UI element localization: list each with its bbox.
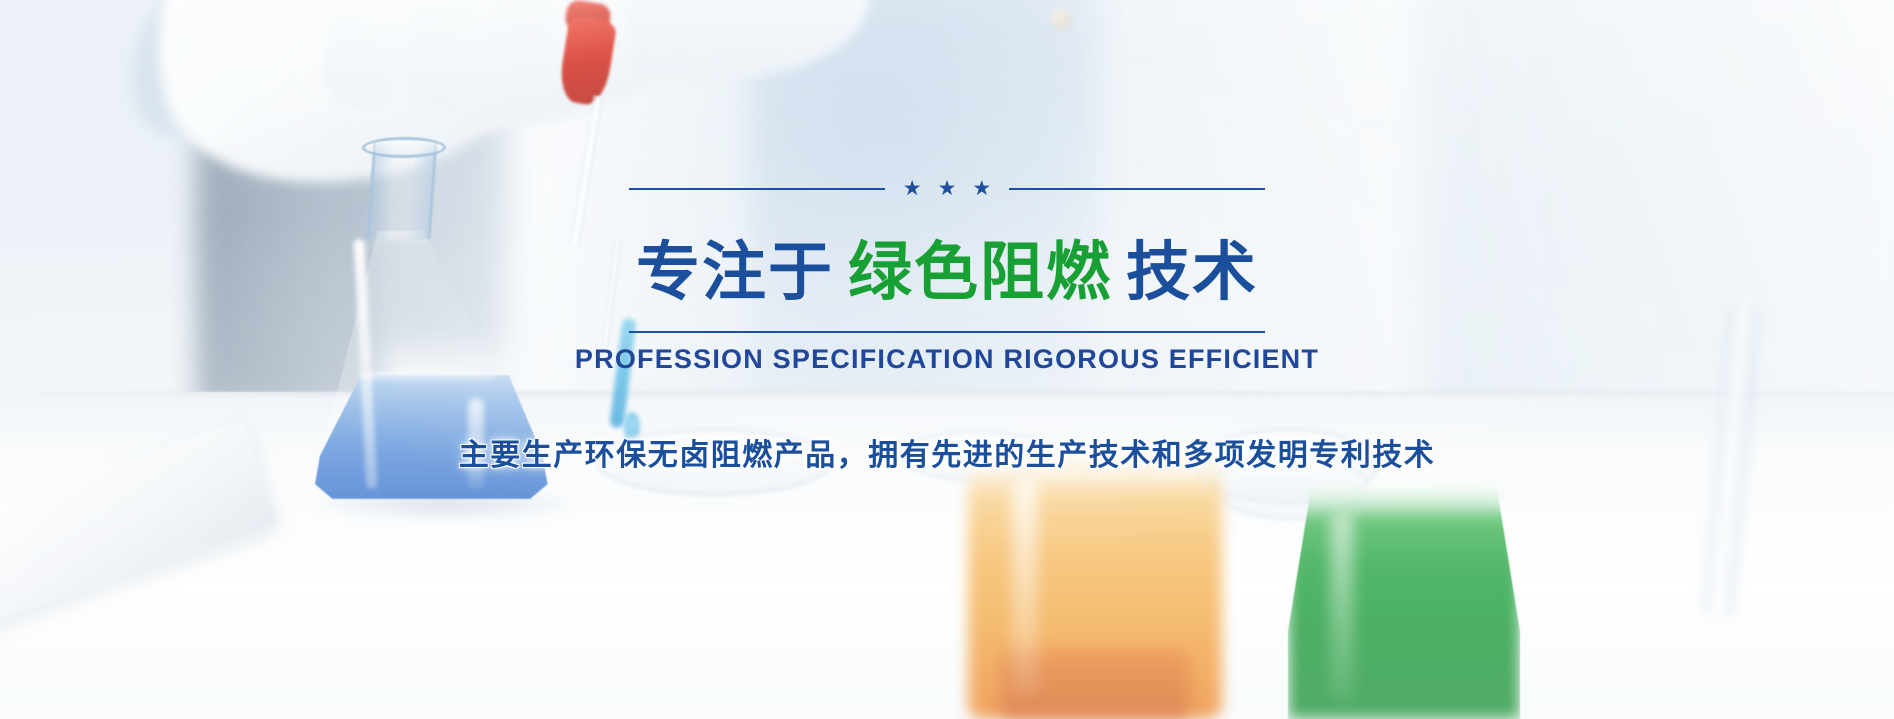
glove-finger-3: [479, 0, 559, 111]
lab-coat-button: [1050, 8, 1072, 30]
green-flask-highlight: [1330, 512, 1354, 702]
flask-highlight-2: [468, 398, 484, 490]
petri-dish-1: [596, 428, 832, 496]
erlenmeyer-flask: [318, 143, 568, 513]
flask-meniscus: [358, 370, 498, 384]
lab-table-edge: [0, 392, 1894, 395]
orange-beaker-highlight: [1012, 478, 1038, 698]
green-flask: [1288, 488, 1520, 719]
background-photo: [0, 0, 1894, 719]
hero-banner: ★ ★ ★ 专注于绿色阻燃技术 PROFESSION SPECIFICATION…: [0, 0, 1894, 719]
